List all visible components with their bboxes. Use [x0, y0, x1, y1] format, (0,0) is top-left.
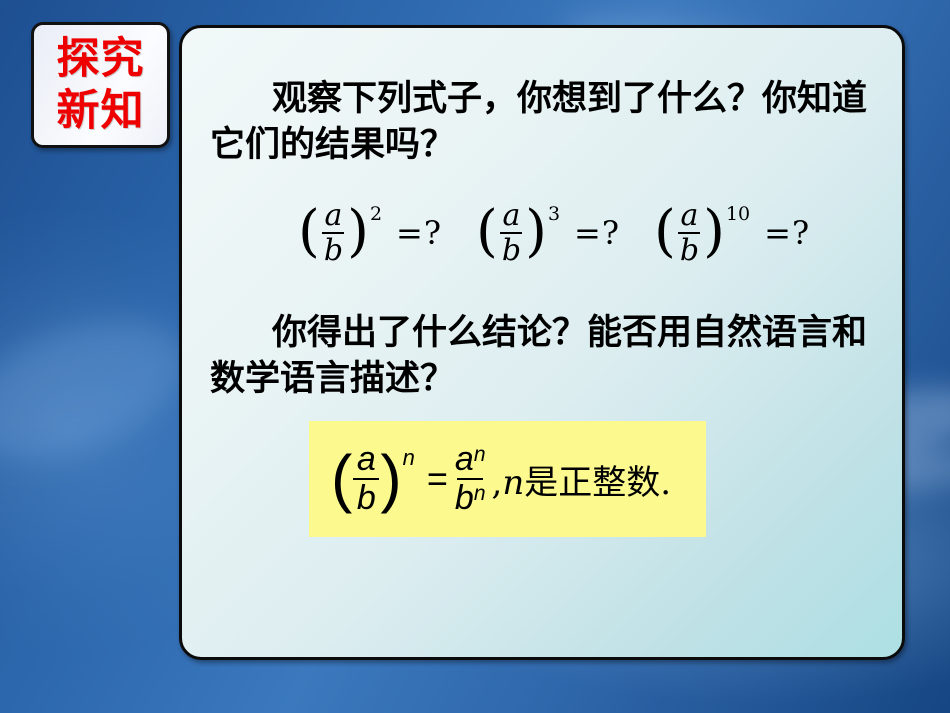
- open-paren: (: [654, 204, 676, 260]
- conclusion-paragraph: 你得出了什么结论？能否用自然语言和数学语言描述？: [210, 310, 900, 402]
- badge-line-1: 探究: [57, 33, 145, 85]
- fraction-a-over-b: a b: [677, 201, 702, 265]
- background-wisp-left: [0, 294, 204, 485]
- formula-highlight-box: ( a b ) n = a n b n: [309, 421, 706, 537]
- fraction-denominator: b: [354, 482, 379, 515]
- fraction-denominator: b: [499, 236, 524, 265]
- exponent: 10: [726, 203, 750, 225]
- open-paren: (: [331, 446, 352, 510]
- math-example-row: ( a b ) 2 =? ( a b ) 3 =?: [298, 201, 810, 265]
- fraction-a-pow-n-over-b-pow-n: a n b n: [452, 443, 489, 515]
- exponent: 3: [548, 203, 560, 225]
- fraction-numerator: a: [354, 443, 379, 476]
- fraction-denominator: b n: [452, 482, 489, 515]
- equals-sign: =: [427, 458, 449, 500]
- condition-label: 是正整数.: [524, 463, 671, 503]
- fraction-a-over-b: a b: [353, 443, 379, 515]
- math-expression-1: ( a b ) 2 =?: [298, 201, 442, 265]
- fraction-denominator: b: [321, 236, 346, 265]
- fraction-numerator: a n: [452, 443, 489, 476]
- topic-badge: 探究 新知: [31, 22, 170, 148]
- fraction-numerator: a: [500, 201, 524, 230]
- open-paren: (: [476, 204, 498, 260]
- exponent-n: n: [403, 445, 415, 471]
- close-paren: ): [380, 446, 401, 510]
- badge-line-2: 新知: [57, 85, 145, 137]
- close-paren: ): [525, 204, 547, 260]
- result-equals-question: =?: [396, 214, 442, 252]
- variable-n: n: [502, 463, 524, 503]
- numerator-base: a: [455, 443, 474, 476]
- fraction-numerator: a: [678, 201, 702, 230]
- denominator-exponent: n: [474, 483, 486, 504]
- power-rule-formula: ( a b ) n = a n b n: [331, 443, 490, 515]
- fraction-denominator: b: [677, 236, 702, 265]
- result-equals-question: =?: [574, 214, 620, 252]
- open-paren: (: [298, 204, 320, 260]
- close-paren: ): [703, 204, 725, 260]
- fraction-a-over-b: a b: [321, 201, 346, 265]
- numerator-exponent: n: [474, 444, 486, 465]
- exponent: 2: [370, 203, 382, 225]
- math-expression-2: ( a b ) 3 =?: [476, 201, 620, 265]
- fraction-a-over-b: a b: [499, 201, 524, 265]
- slide-canvas: 观察下列式子，你想到了什么？你知道它们的结果吗？ ( a b ) 2 =? ( …: [0, 0, 950, 713]
- math-expression-3: ( a b ) 10 =?: [654, 201, 810, 265]
- close-paren: ): [347, 204, 369, 260]
- formula-condition-text: ,n是正整数.: [492, 455, 672, 504]
- question-paragraph: 观察下列式子，你想到了什么？你知道它们的结果吗？: [210, 76, 900, 168]
- denominator-base: b: [455, 482, 474, 515]
- result-equals-question: =?: [764, 214, 810, 252]
- comma-separator: ,: [492, 463, 503, 503]
- content-panel: 观察下列式子，你想到了什么？你知道它们的结果吗？ ( a b ) 2 =? ( …: [179, 25, 905, 660]
- fraction-numerator: a: [322, 201, 346, 230]
